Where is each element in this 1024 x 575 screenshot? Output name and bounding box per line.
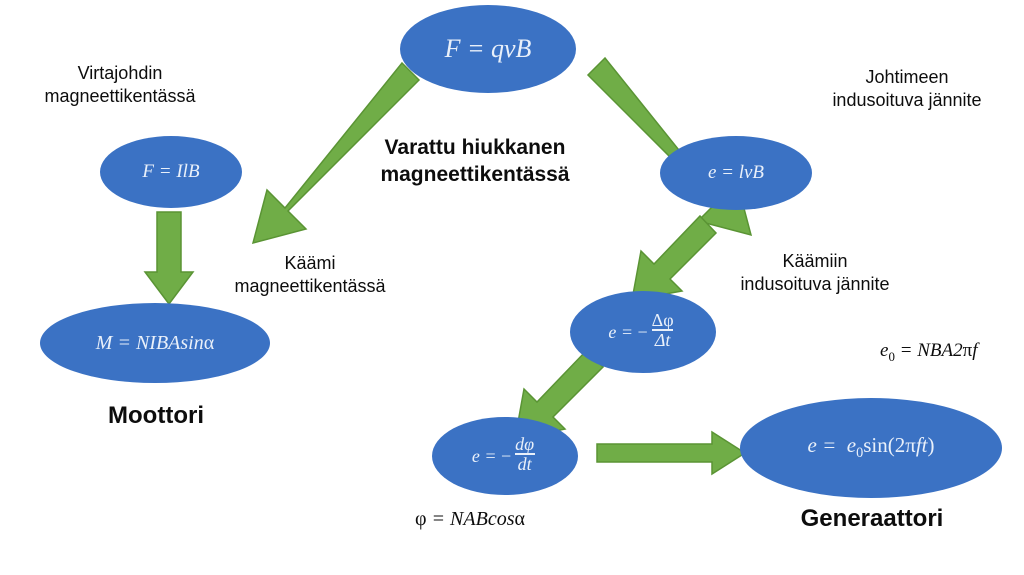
node-diff-flux-formula: e = − dφ dt (472, 437, 538, 476)
caption-motor: Moottori (48, 400, 264, 431)
node-root-formula: F = qvB (445, 35, 532, 62)
label-emf-in-conductor: Johtimeen indusoituva jännite (790, 66, 1024, 113)
node-motor[interactable]: M = NIBAsinα (40, 303, 270, 383)
label-coil-in-field: Käämi magneettikentässä (195, 252, 425, 299)
node-generator-formula: e = e0sin(2πft) (808, 434, 935, 461)
node-motor-formula: M = NIBAsinα (96, 333, 214, 354)
node-diff-flux[interactable]: e = − dφ dt (432, 417, 578, 495)
arrow-wire-force-to-motor (145, 212, 193, 304)
caption-generator: Generaattori (752, 503, 992, 534)
page-title: Varattu hiukkanen magneettikentässä (330, 134, 620, 189)
delta-flux-fraction: Δφ Δt (649, 311, 677, 350)
label-wire-in-field: Virtajohdin magneettikentässä (0, 62, 240, 109)
node-conductor-emf-formula: e = lvB (708, 163, 764, 183)
node-delta-flux-formula: e = − Δφ Δt (608, 313, 677, 352)
node-generator[interactable]: e = e0sin(2πft) (740, 398, 1002, 498)
label-emf-in-coil: Käämiin indusoituva jännite (700, 250, 930, 297)
equation-e0-amplitude: e0 = NBA2πf (880, 340, 977, 365)
node-wire-force[interactable]: F = IlB (100, 136, 242, 208)
diagram-canvas: F = qvB F = IlB e = lvB M = NIBAsinα e =… (0, 0, 1024, 575)
diff-flux-fraction: dφ dt (512, 435, 537, 474)
node-conductor-emf[interactable]: e = lvB (660, 136, 812, 210)
node-wire-force-formula: F = IlB (142, 162, 199, 182)
node-root[interactable]: F = qvB (400, 5, 576, 93)
equation-flux: φ = NABcosα (415, 508, 525, 531)
node-delta-flux[interactable]: e = − Δφ Δt (570, 291, 716, 373)
arrow-diff-flux-to-generator (597, 432, 745, 474)
